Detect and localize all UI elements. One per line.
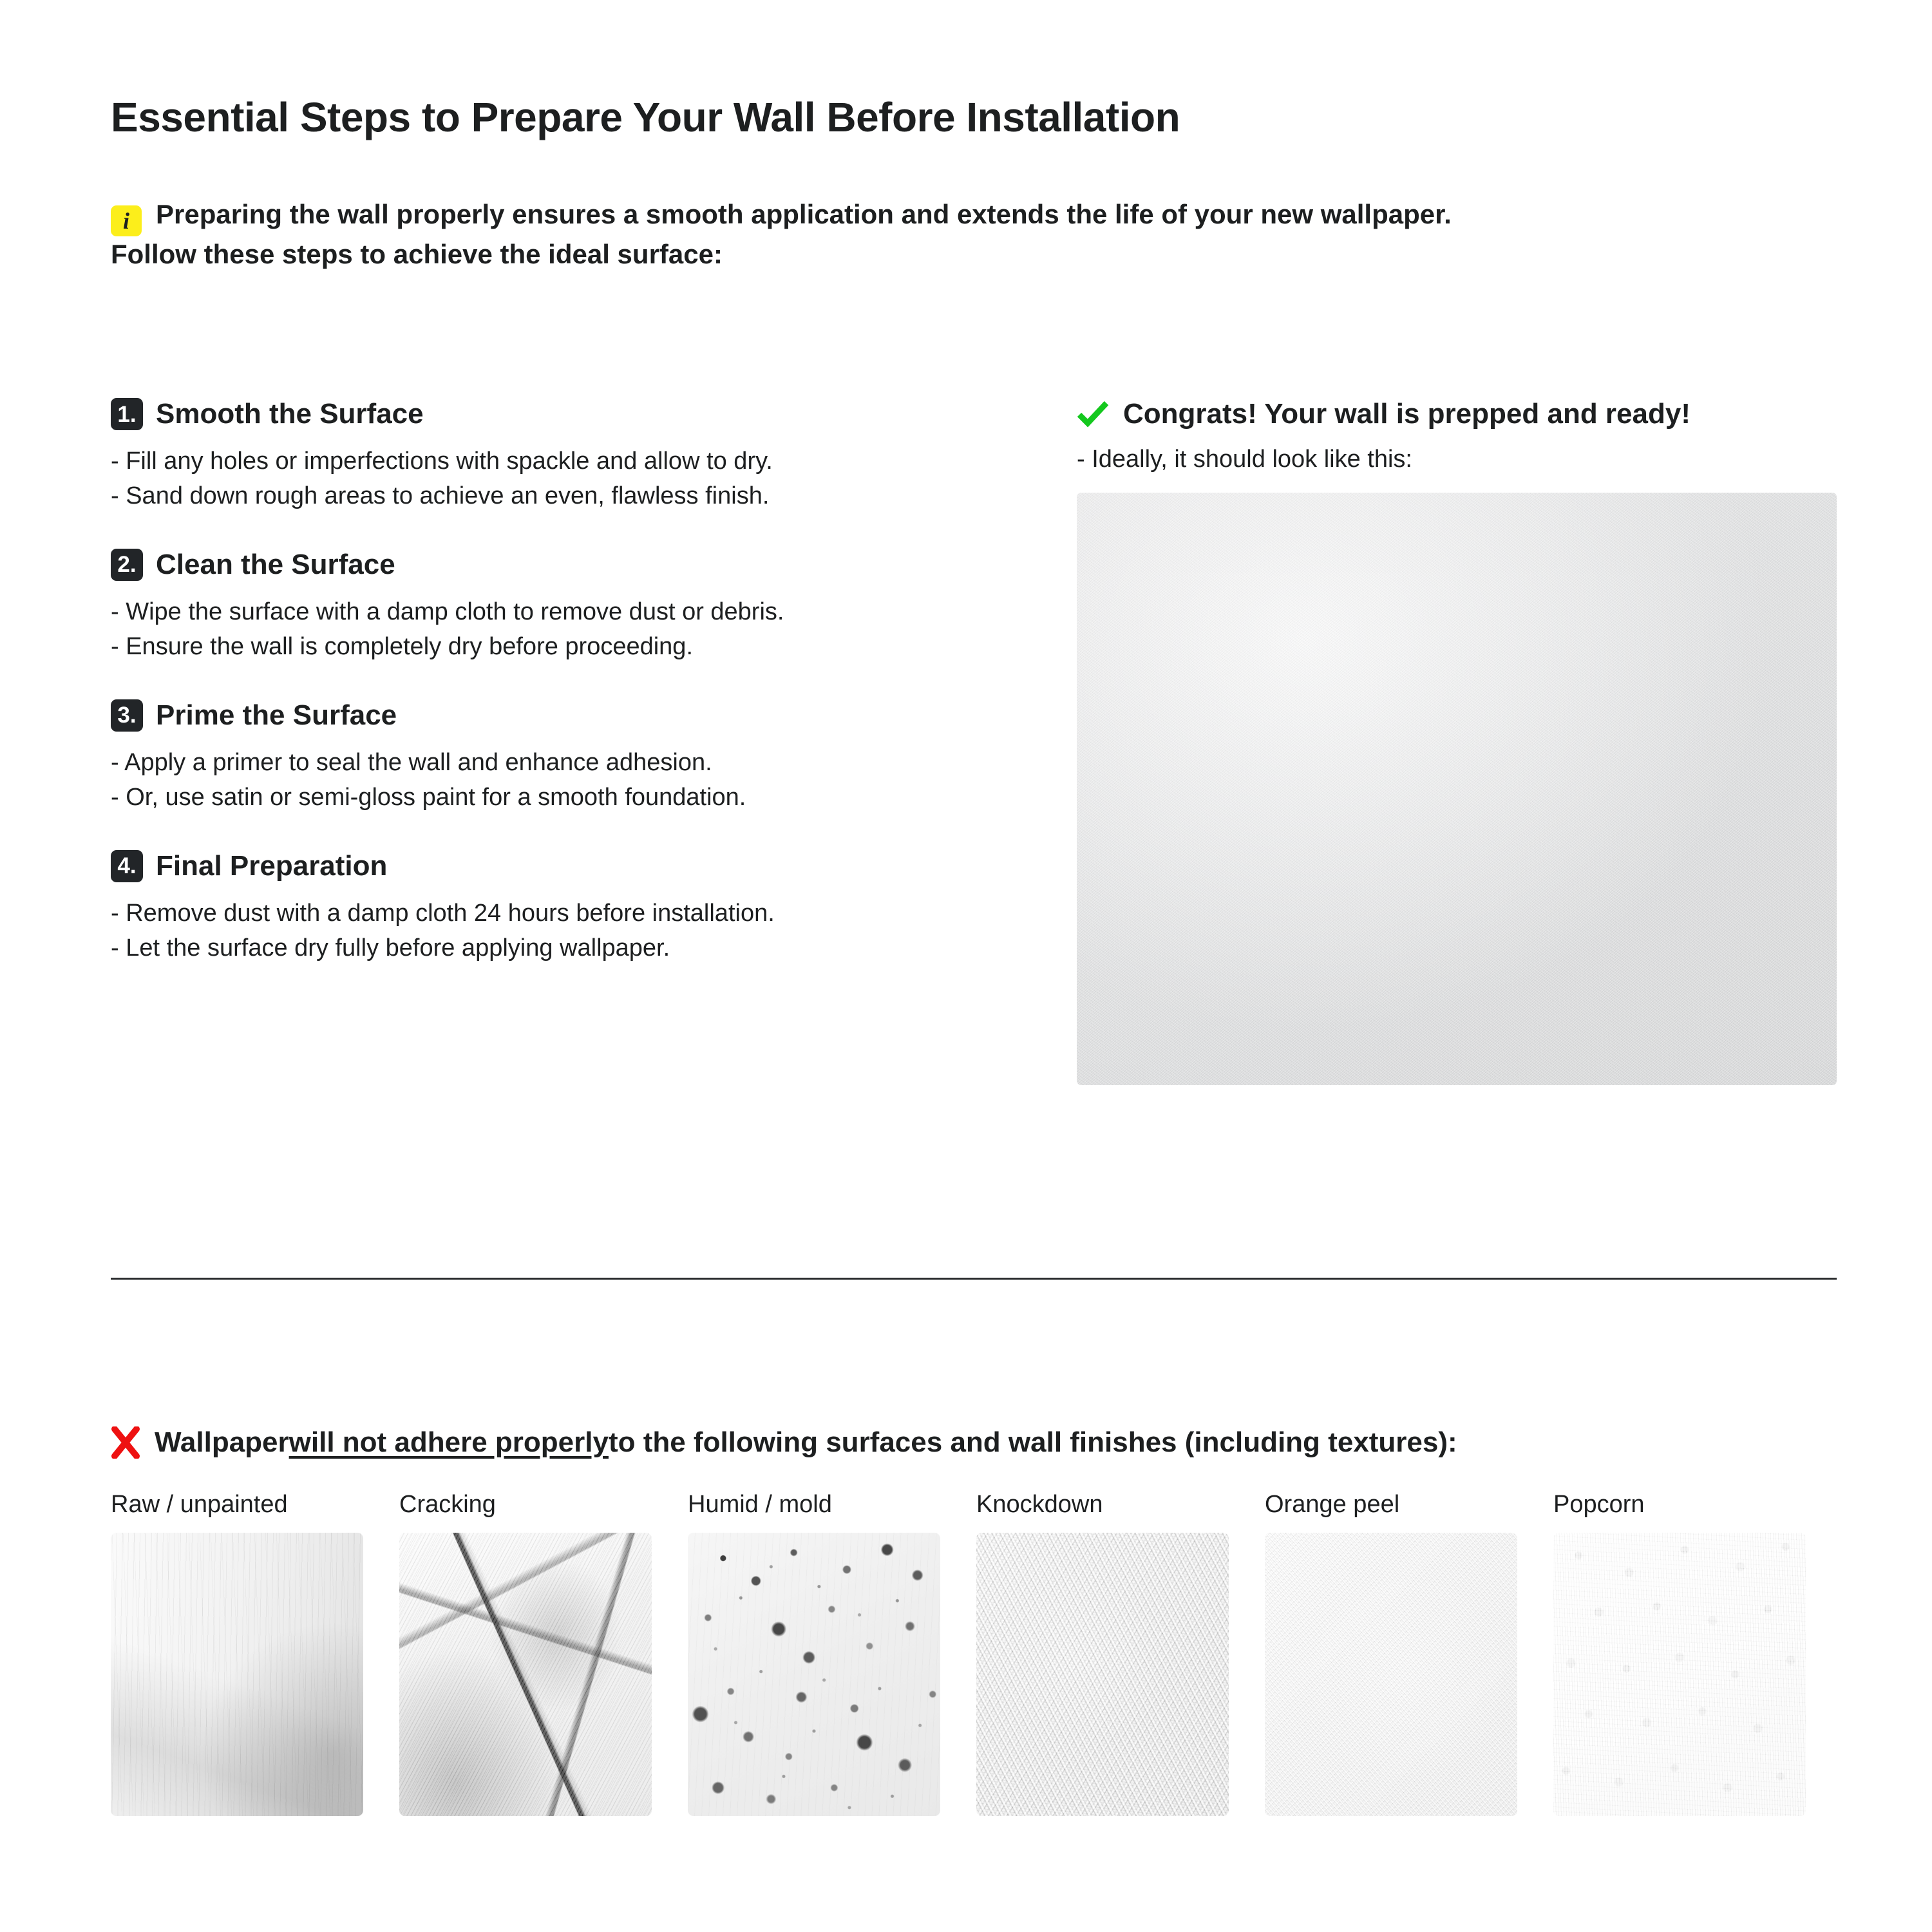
step-body: - Wipe the surface with a damp cloth to … <box>111 595 1012 665</box>
warning-heading: Wallpaper will not adhere properly to th… <box>111 1426 1457 1459</box>
texture-label: Knockdown <box>976 1491 1265 1519</box>
texture-thumbnail-raw-unpainted <box>111 1533 363 1816</box>
step-title: Smooth the Surface <box>156 398 424 430</box>
info-icon: i <box>111 205 142 236</box>
texture-item-orange-peel: Orange peel <box>1265 1491 1553 1816</box>
intro-paragraph: iPreparing the wall properly ensures a s… <box>111 196 1837 272</box>
step-title: Clean the Surface <box>156 549 395 581</box>
step-bullet: - Let the surface dry fully before apply… <box>111 931 1012 966</box>
page-title: Essential Steps to Prepare Your Wall Bef… <box>111 93 1180 141</box>
texture-label: Raw / unpainted <box>111 1491 399 1519</box>
texture-item-cracking: Cracking <box>399 1491 688 1816</box>
step-number-badge: 2. <box>111 549 143 581</box>
step-bullet: - Or, use satin or semi-gloss paint for … <box>111 781 1012 815</box>
step-title: Final Preparation <box>156 850 387 882</box>
texture-thumbnail-popcorn <box>1553 1533 1806 1816</box>
texture-item-raw-unpainted: Raw / unpainted <box>111 1491 399 1816</box>
texture-item-knockdown: Knockdown <box>976 1491 1265 1816</box>
step-number-badge: 3. <box>111 699 143 732</box>
step-title: Prime the Surface <box>156 699 397 732</box>
step-bullet: - Apply a primer to seal the wall and en… <box>111 746 1012 781</box>
texture-thumbnail-knockdown <box>976 1533 1229 1816</box>
step-item-1: 1. Smooth the Surface - Fill any holes o… <box>111 398 1012 514</box>
congrats-column: Congrats! Your wall is prepped and ready… <box>1077 398 1837 1085</box>
congrats-heading: Congrats! Your wall is prepped and ready… <box>1077 398 1837 430</box>
texture-label: Cracking <box>399 1491 688 1519</box>
step-bullet: - Wipe the surface with a damp cloth to … <box>111 595 1012 630</box>
step-number-badge: 4. <box>111 850 143 882</box>
check-icon <box>1077 400 1109 428</box>
section-divider <box>111 1278 1837 1280</box>
x-mark-icon <box>111 1426 140 1459</box>
step-item-2: 2. Clean the Surface - Wipe the surface … <box>111 549 1012 665</box>
texture-thumbnail-cracking <box>399 1533 652 1816</box>
step-bullet: - Ensure the wall is completely dry befo… <box>111 630 1012 665</box>
step-heading: 2. Clean the Surface <box>111 549 1012 581</box>
step-item-3: 3. Prime the Surface - Apply a primer to… <box>111 699 1012 815</box>
warning-text-underlined: will not adhere properly <box>289 1426 609 1459</box>
wall-prep-infographic: Essential Steps to Prepare Your Wall Bef… <box>0 0 1932 1932</box>
step-heading: 1. Smooth the Surface <box>111 398 1012 430</box>
congrats-subtext: - Ideally, it should look like this: <box>1077 446 1837 473</box>
step-item-4: 4. Final Preparation - Remove dust with … <box>111 850 1012 966</box>
step-bullet: - Sand down rough areas to achieve an ev… <box>111 479 1012 514</box>
texture-item-humid-mold: Humid / mold <box>688 1491 976 1816</box>
texture-label: Orange peel <box>1265 1491 1553 1519</box>
steps-column: 1. Smooth the Surface - Fill any holes o… <box>111 398 1012 966</box>
texture-label: Popcorn <box>1553 1491 1842 1519</box>
intro-line-2: Follow these steps to achieve the ideal … <box>111 239 723 269</box>
step-body: - Fill any holes or imperfections with s… <box>111 444 1012 514</box>
step-body: - Remove dust with a damp cloth 24 hours… <box>111 896 1012 966</box>
step-heading: 4. Final Preparation <box>111 850 1012 882</box>
bad-surface-gallery: Raw / unpainted Cracking Humid / mold Kn… <box>111 1491 1843 1816</box>
step-bullet: - Remove dust with a damp cloth 24 hours… <box>111 896 1012 931</box>
texture-label: Humid / mold <box>688 1491 976 1519</box>
warning-text-before: Wallpaper <box>155 1426 289 1459</box>
ideal-wall-image <box>1077 493 1837 1085</box>
congrats-heading-text: Congrats! Your wall is prepped and ready… <box>1123 398 1690 430</box>
texture-thumbnail-orange-peel <box>1265 1533 1517 1816</box>
warning-text-after: to the following surfaces and wall finis… <box>609 1426 1457 1459</box>
texture-item-popcorn: Popcorn <box>1553 1491 1842 1816</box>
intro-line-1: Preparing the wall properly ensures a sm… <box>156 199 1452 229</box>
texture-thumbnail-humid-mold <box>688 1533 940 1816</box>
step-bullet: - Fill any holes or imperfections with s… <box>111 444 1012 479</box>
step-body: - Apply a primer to seal the wall and en… <box>111 746 1012 815</box>
step-number-badge: 1. <box>111 398 143 430</box>
step-heading: 3. Prime the Surface <box>111 699 1012 732</box>
